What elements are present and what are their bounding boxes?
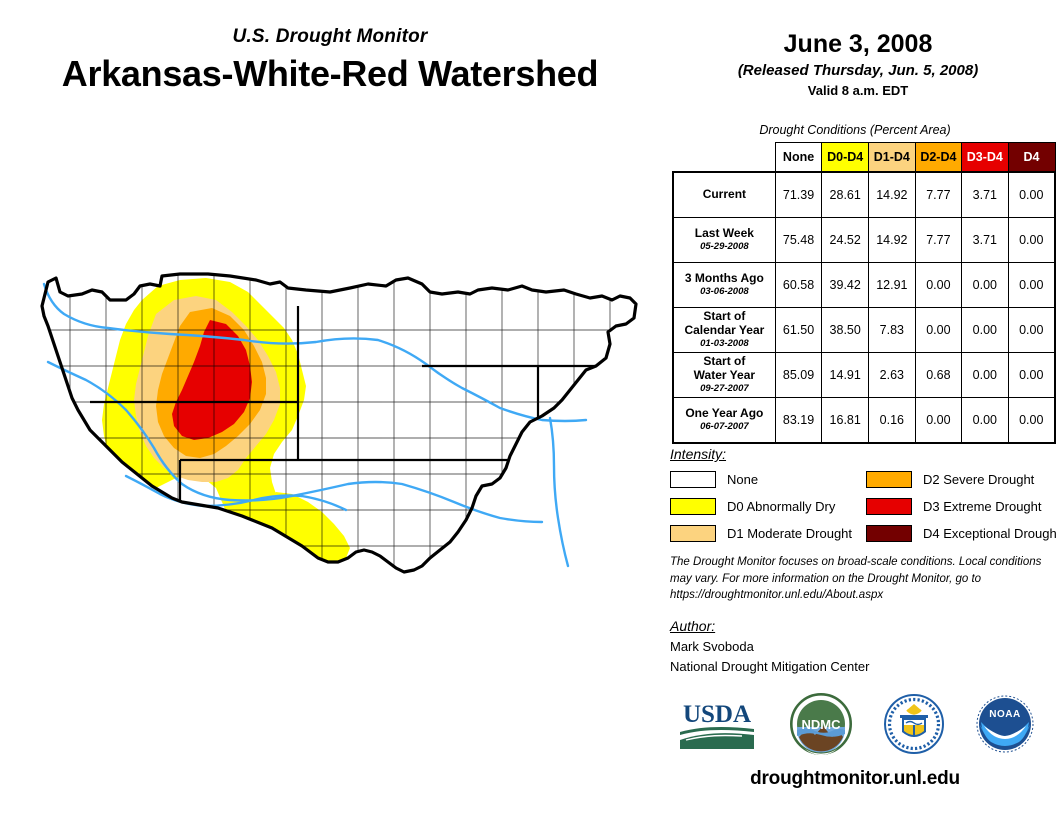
table-cell: 39.42 — [822, 263, 869, 308]
table-row-label: Last Week05-29-2008 — [673, 218, 775, 263]
legend-item: D2 Severe Drought — [866, 468, 1056, 491]
table-body: Current71.3928.6114.927.773.710.00Last W… — [673, 172, 1055, 443]
legend-item: D1 Moderate Drought — [670, 522, 852, 545]
legend-label: D2 Severe Drought — [923, 472, 1034, 487]
valid-time: Valid 8 a.m. EDT — [660, 83, 1056, 98]
disclaimer-text: The Drought Monitor focuses on broad-sca… — [670, 554, 1050, 604]
table-row-date: 06-07-2007 — [677, 422, 772, 433]
table-cell: 16.81 — [822, 398, 869, 444]
legend-label: D1 Moderate Drought — [727, 526, 852, 541]
table-cell: 75.48 — [775, 218, 822, 263]
title-block: U.S. Drought Monitor Arkansas-White-Red … — [0, 26, 660, 95]
logo-strip: USDA NDMC — [660, 692, 1050, 760]
table-cell: 0.00 — [962, 353, 1008, 398]
table-cell: 60.58 — [775, 263, 822, 308]
table-row: 3 Months Ago03-06-200860.5839.4212.910.0… — [673, 263, 1055, 308]
release-date: (Released Thursday, Jun. 5, 2008) — [660, 62, 1056, 79]
table-cell: 0.00 — [962, 308, 1008, 353]
legend-swatch — [670, 525, 716, 542]
table-cell: 0.00 — [915, 398, 961, 444]
table-row: Last Week05-29-200875.4824.5214.927.773.… — [673, 218, 1055, 263]
table-row: Start ofWater Year09-27-200785.0914.912.… — [673, 353, 1055, 398]
program-title: U.S. Drought Monitor — [0, 26, 660, 48]
river-mississippi — [550, 418, 568, 566]
table-cell: 0.00 — [915, 263, 961, 308]
ndmc-logo[interactable]: NDMC — [790, 693, 852, 760]
table-row-label: One Year Ago06-07-2007 — [673, 398, 775, 444]
usda-logo-text: USDA — [683, 701, 751, 728]
table-cell: 28.61 — [822, 172, 869, 218]
noaa-logo[interactable]: NOAA — [976, 695, 1034, 758]
table-cell: 7.77 — [915, 218, 961, 263]
table-column-header-d4: D4 — [1008, 143, 1055, 173]
usda-logo[interactable]: USDA — [676, 696, 758, 757]
author-affiliation: National Drought Mitigation Center — [670, 657, 869, 677]
legend-title: Intensity: — [670, 446, 726, 462]
table-cell: 0.00 — [1008, 353, 1055, 398]
table-cell: 24.52 — [822, 218, 869, 263]
table-cell: 38.50 — [822, 308, 869, 353]
legend-item: None — [670, 468, 852, 491]
map-svg[interactable] — [30, 270, 650, 670]
legend-label: D0 Abnormally Dry — [727, 499, 835, 514]
table-column-header-none: None — [775, 143, 822, 173]
table-column-header-d3-d4: D3-D4 — [962, 143, 1008, 173]
table-cell: 3.71 — [962, 172, 1008, 218]
legend-swatch — [670, 498, 716, 515]
usdc-seal[interactable] — [884, 694, 944, 759]
table-header-row: NoneD0-D4D1-D4D2-D4D3-D4D4 — [673, 143, 1055, 173]
table-cell: 61.50 — [775, 308, 822, 353]
table-row-label: Current — [673, 172, 775, 218]
author-heading: Author: — [670, 618, 715, 634]
author-block: Mark Svoboda National Drought Mitigation… — [670, 637, 869, 676]
page-title: Arkansas-White-Red Watershed — [0, 53, 660, 95]
table-column-header-d0-d4: D0-D4 — [822, 143, 869, 173]
map-date: June 3, 2008 — [660, 30, 1056, 59]
table-cell: 7.77 — [915, 172, 961, 218]
date-block: June 3, 2008 (Released Thursday, Jun. 5,… — [660, 30, 1056, 98]
table-cell: 14.92 — [869, 218, 916, 263]
table-cell: 0.16 — [869, 398, 916, 444]
table-cell: 14.91 — [822, 353, 869, 398]
table-cell: 85.09 — [775, 353, 822, 398]
table-cell: 7.83 — [869, 308, 916, 353]
table-row: One Year Ago06-07-200783.1916.810.160.00… — [673, 398, 1055, 444]
table-cell: 0.00 — [1008, 308, 1055, 353]
table-cell: 0.00 — [1008, 172, 1055, 218]
table-column-header-d1-d4: D1-D4 — [869, 143, 916, 173]
table-cell: 83.19 — [775, 398, 822, 444]
legend-swatch — [866, 525, 912, 542]
table-header: NoneD0-D4D1-D4D2-D4D3-D4D4 — [673, 143, 1055, 173]
noaa-logo-text: NOAA — [989, 709, 1020, 720]
legend-item: D3 Extreme Drought — [866, 495, 1056, 518]
table-row-date: 03-06-2008 — [677, 287, 772, 298]
table-cell: 0.00 — [962, 398, 1008, 444]
table-row-date: 05-29-2008 — [677, 242, 772, 253]
legend-swatch — [866, 498, 912, 515]
ndmc-logo-text: NDMC — [802, 717, 842, 732]
table-column-header-d2-d4: D2-D4 — [915, 143, 961, 173]
table-cell: 14.92 — [869, 172, 916, 218]
table-cell: 0.00 — [1008, 218, 1055, 263]
table-cell: 0.00 — [1008, 398, 1055, 444]
footer-url[interactable]: droughtmonitor.unl.edu — [660, 768, 1050, 790]
table-row-label: 3 Months Ago03-06-2008 — [673, 263, 775, 308]
legend-item: D4 Exceptional Drought — [866, 522, 1056, 545]
table-cell: 0.00 — [915, 308, 961, 353]
table-cell: 0.00 — [962, 263, 1008, 308]
legend-column-right: D2 Severe DroughtD3 Extreme DroughtD4 Ex… — [866, 468, 1056, 549]
table-cell: 2.63 — [869, 353, 916, 398]
table-corner-blank — [673, 143, 775, 173]
table-row-date: 01-03-2008 — [677, 339, 772, 350]
legend-swatch — [866, 471, 912, 488]
drought-conditions-table: NoneD0-D4D1-D4D2-D4D3-D4D4 Current71.392… — [672, 142, 1056, 444]
drought-map[interactable] — [30, 270, 650, 670]
author-name: Mark Svoboda — [670, 637, 869, 657]
table-row: Start ofCalendar Year01-03-200861.5038.5… — [673, 308, 1055, 353]
table-cell: 3.71 — [962, 218, 1008, 263]
table-caption: Drought Conditions (Percent Area) — [660, 123, 1050, 137]
legend-column-left: NoneD0 Abnormally DryD1 Moderate Drought — [670, 468, 852, 549]
legend-item: D0 Abnormally Dry — [670, 495, 852, 518]
table-row: Current71.3928.6114.927.773.710.00 — [673, 172, 1055, 218]
table-cell: 71.39 — [775, 172, 822, 218]
table-cell: 12.91 — [869, 263, 916, 308]
table-row-label: Start ofCalendar Year01-03-2008 — [673, 308, 775, 353]
table-cell: 0.68 — [915, 353, 961, 398]
legend-label: None — [727, 472, 758, 487]
table-row-label: Start ofWater Year09-27-2007 — [673, 353, 775, 398]
table-cell: 0.00 — [1008, 263, 1055, 308]
legend-label: D3 Extreme Drought — [923, 499, 1042, 514]
legend-swatch — [670, 471, 716, 488]
table-row-date: 09-27-2007 — [677, 384, 772, 395]
legend-label: D4 Exceptional Drought — [923, 526, 1056, 541]
